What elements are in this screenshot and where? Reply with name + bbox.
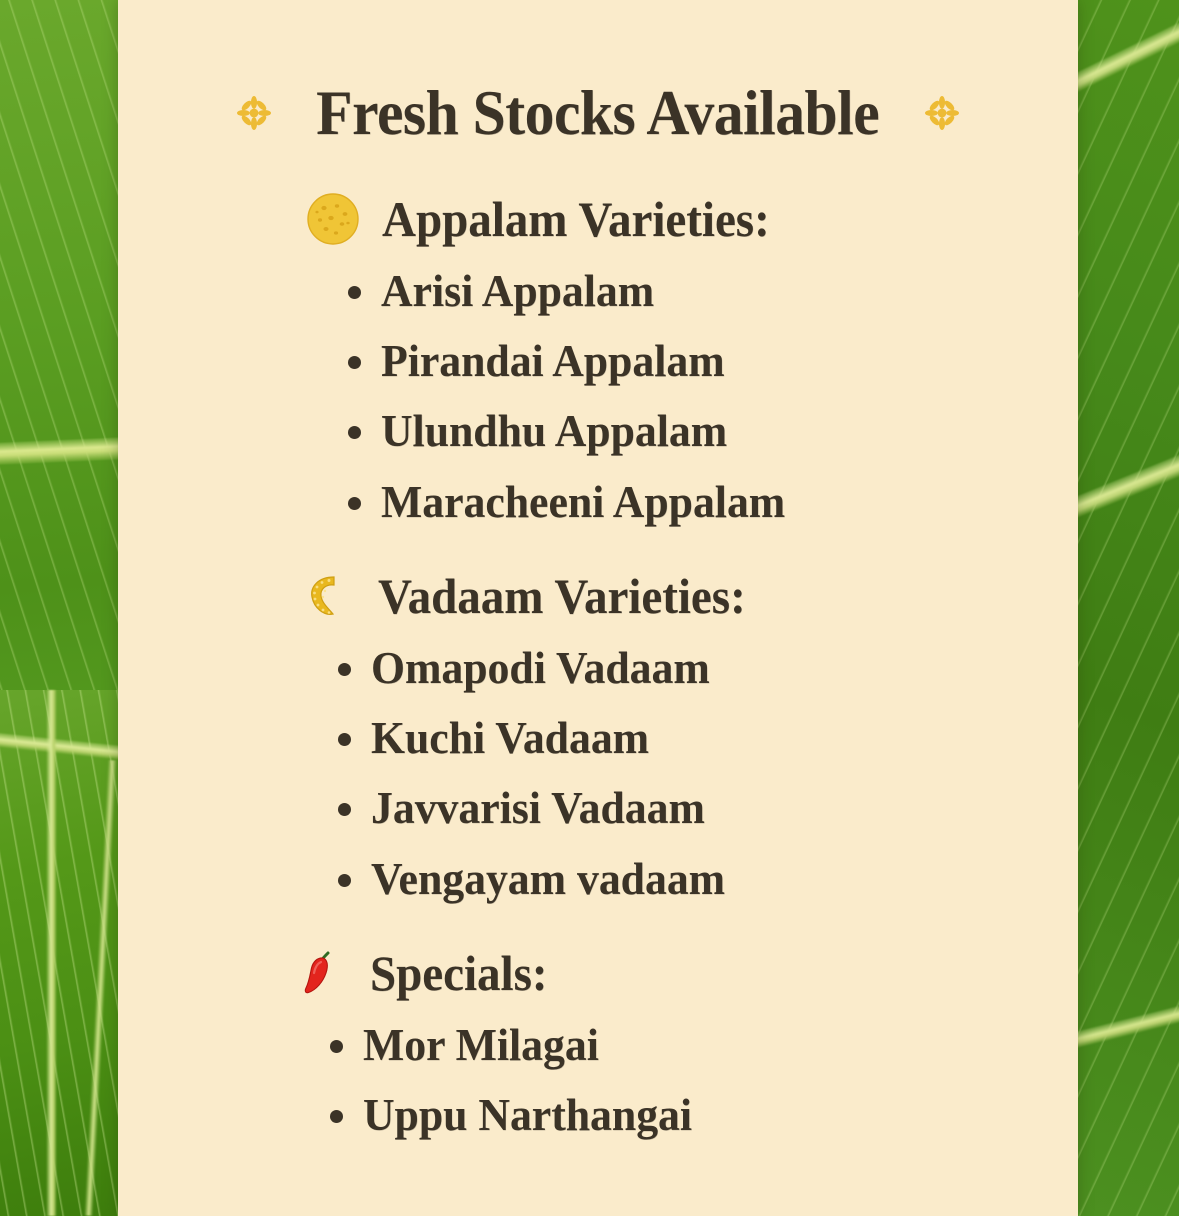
sections-container: Appalam Varieties: Arisi Appalam Piranda…	[158, 188, 1038, 1148]
section-title: Vadaam Varieties:	[378, 567, 746, 625]
list-item: Pirandai Appalam	[348, 328, 1038, 394]
bullet-icon	[338, 874, 351, 887]
section-item-list: Arisi Appalam Pirandai Appalam Ulundhu A…	[158, 258, 1038, 535]
sparkle-asterisk-icon	[925, 96, 959, 130]
bullet-icon	[338, 733, 351, 746]
bullet-icon	[338, 803, 351, 816]
list-item: Ulundhu Appalam	[348, 398, 1038, 464]
bullet-icon	[348, 356, 361, 369]
section-heading: Appalam Varieties:	[158, 188, 1038, 250]
list-item-label: Uppu Narthangai	[363, 1082, 692, 1148]
section-appalam: Appalam Varieties: Arisi Appalam Piranda…	[158, 188, 1038, 535]
appalam-papad-icon	[302, 188, 364, 250]
section-title: Appalam Varieties:	[382, 190, 770, 248]
list-item: Javvarisi Vadaam	[338, 775, 1038, 841]
section-item-list: Mor Milagai Uppu Narthangai	[158, 1012, 1038, 1148]
section-title: Specials:	[370, 944, 548, 1002]
list-item-label: Kuchi Vadaam	[371, 705, 649, 771]
section-vadaam: Vadaam Varieties: Omapodi Vadaam Kuchi V…	[158, 565, 1038, 912]
vadaam-fried-snack-icon	[298, 565, 360, 627]
title-row: Fresh Stocks Available	[158, 0, 1038, 150]
leaf-stem-left	[46, 690, 57, 1216]
list-item: Arisi Appalam	[348, 258, 1038, 324]
list-item-label: Vengayam vadaam	[371, 846, 725, 912]
list-item: Kuchi Vadaam	[338, 705, 1038, 771]
page-title: Fresh Stocks Available	[317, 76, 880, 150]
flyer-card: Fresh Stocks Available	[118, 0, 1078, 1216]
bullet-icon	[330, 1040, 343, 1053]
section-specials: Specials: Mor Milagai Uppu Narthangai	[158, 942, 1038, 1148]
list-item-label: Pirandai Appalam	[381, 328, 725, 394]
list-item: Vengayam vadaam	[338, 846, 1038, 912]
list-item: Omapodi Vadaam	[338, 635, 1038, 701]
section-heading: Vadaam Varieties:	[158, 565, 1038, 627]
list-item-label: Arisi Appalam	[381, 258, 654, 324]
section-heading: Specials:	[158, 942, 1038, 1004]
list-item-label: Maracheeni Appalam	[381, 469, 785, 535]
section-item-list: Omapodi Vadaam Kuchi Vadaam Javvarisi Va…	[158, 635, 1038, 912]
bullet-icon	[348, 426, 361, 439]
list-item: Mor Milagai	[330, 1012, 1038, 1078]
list-item-label: Mor Milagai	[363, 1012, 599, 1078]
bullet-icon	[330, 1110, 343, 1123]
red-chili-pepper-icon	[290, 942, 352, 1004]
bullet-icon	[348, 497, 361, 510]
sparkle-asterisk-icon	[237, 96, 271, 130]
bullet-icon	[348, 286, 361, 299]
list-item-label: Omapodi Vadaam	[371, 635, 710, 701]
list-item-label: Ulundhu Appalam	[381, 398, 727, 464]
list-item: Uppu Narthangai	[330, 1082, 1038, 1148]
bullet-icon	[338, 663, 351, 676]
list-item-label: Javvarisi Vadaam	[371, 775, 705, 841]
list-item: Maracheeni Appalam	[348, 469, 1038, 535]
